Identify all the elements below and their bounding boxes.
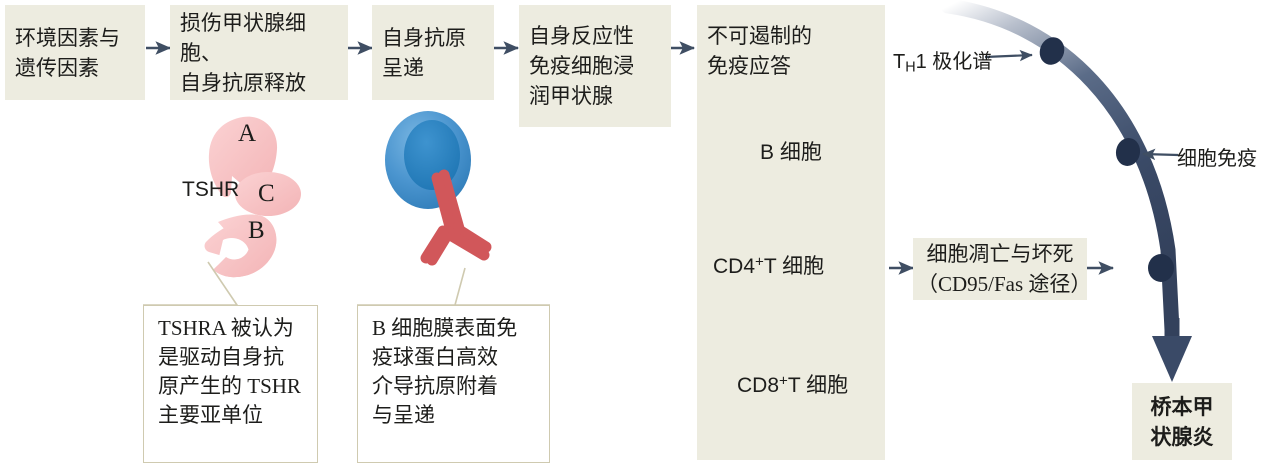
arc-node-th1 — [1036, 34, 1069, 69]
tshr-subunit-b-label: B — [248, 217, 265, 245]
flow-box-hashimoto-label: 桥本甲 状腺炎 — [1132, 392, 1232, 452]
immune-cell-cd8-label: CD8+T 细胞 — [737, 369, 848, 399]
flow-box-infiltration-label: 自身反应性 免疫细胞浸 润甲状腺 — [519, 21, 644, 111]
flow-box-env-genetic: 环境因素与 遗传因素 — [5, 5, 145, 100]
tshr-subunit-a-label: A — [238, 120, 256, 148]
flow-box-env-genetic-label: 环境因素与 遗传因素 — [5, 23, 130, 83]
arc-arrowhead — [1152, 336, 1192, 382]
flow-box-thyroid-damage: 损伤甲状腺细胞、 自身抗原释放 — [170, 5, 348, 100]
callout-tshra-note: TSHRA 被认为 是驱动自身抗 原产生的 TSHR 主要亚单位 — [143, 305, 318, 463]
arc-node-apoptosis — [1148, 254, 1174, 282]
antibody-icon — [426, 175, 486, 260]
flow-box-immune-response-label: 不可遏制的 免疫应答 — [697, 21, 822, 81]
callout-tail-bcell — [357, 268, 550, 305]
cd4-plus-superscript: + — [755, 254, 764, 271]
arc-label-th1-polarization: TH1 极化谱 — [893, 45, 992, 76]
flow-box-autoantigen-label: 自身抗原 呈递 — [372, 23, 476, 83]
cd8-plus-superscript: + — [779, 373, 788, 390]
immune-cell-cd4-label: CD4+T 细胞 — [713, 250, 824, 280]
callout-bcell-note: B 细胞膜表面免 疫球蛋白高效 介导抗原附着 与呈递 — [357, 305, 550, 463]
flow-box-infiltration: 自身反应性 免疫细胞浸 润甲状腺 — [519, 5, 671, 127]
callout-bcell-note-label: B 细胞膜表面免 疫球蛋白高效 介导抗原附着 与呈递 — [358, 306, 549, 430]
flow-box-hashimoto: 桥本甲 状腺炎 — [1132, 383, 1232, 460]
flow-box-apoptosis-label: 细胞凋亡与坏死 （CD95/Fas 途径） — [913, 239, 1087, 299]
diagram-canvas: 环境因素与 遗传因素 损伤甲状腺细胞、 自身抗原释放 自身抗原 呈递 自身反应性… — [0, 0, 1265, 468]
flow-box-apoptosis: 细胞凋亡与坏死 （CD95/Fas 途径） — [913, 238, 1087, 300]
arc-node-cellular — [1114, 136, 1142, 168]
tshr-subunit-c-label: C — [258, 180, 275, 208]
arc-label-arrows — [985, 55, 1178, 155]
arrow-cellular-label — [1143, 154, 1178, 155]
callout-tail-tshra — [143, 262, 237, 305]
flow-box-autoantigen: 自身抗原 呈递 — [372, 5, 494, 100]
callout-connectors — [143, 262, 550, 305]
th1-h-subscript: H — [905, 60, 915, 76]
immune-cell-b-cell-label: B 细胞 — [760, 136, 822, 166]
bcell-antibody-illustration — [385, 111, 486, 260]
flow-box-thyroid-damage-label: 损伤甲状腺细胞、 自身抗原释放 — [170, 8, 348, 98]
callout-tshra-note-label: TSHRA 被认为 是驱动自身抗 原产生的 TSHR 主要亚单位 — [144, 306, 317, 430]
tshr-name-label: TSHR — [182, 178, 239, 202]
arc-label-cellular-immunity: 细胞免疫 — [1177, 142, 1257, 171]
